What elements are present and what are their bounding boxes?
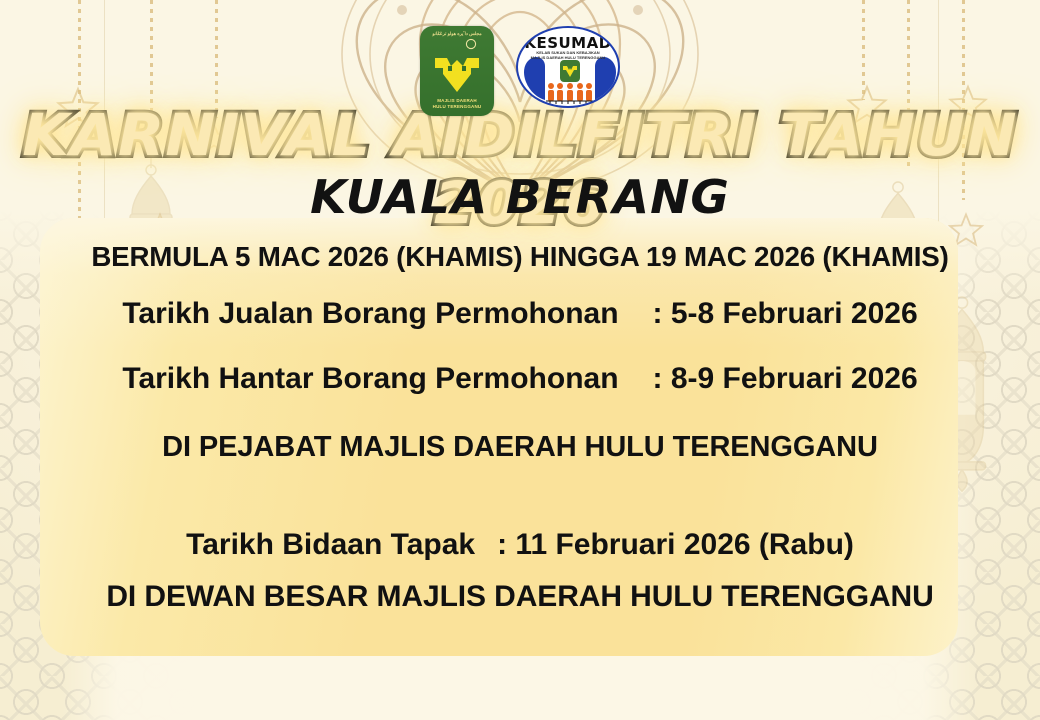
form-sale-date-value: : 5-8 Februari 2026: [653, 297, 918, 331]
majlis-daerah-hulu-terengganu-logo: مجلس داٴيره هولو ترڠݢانو MAJLIS DAERAHHU…: [420, 26, 494, 116]
logo-row: مجلس داٴيره هولو ترڠݢانو MAJLIS DAERAHHU…: [0, 26, 1040, 116]
kesumad-people-icon: [546, 82, 594, 104]
event-date-range: BERMULA 5 MAC 2026 (KHAMIS) HINGGA 19 MA…: [5, 241, 1035, 273]
mdht-name-text: MAJLIS DAERAHHULU TERENGGANU: [420, 98, 494, 110]
bidding-venue: DI DEWAN BESAR MAJLIS DAERAH HULU TERENG…: [0, 580, 1040, 614]
form-submit-date-value: : 8-9 Februari 2026: [653, 362, 918, 396]
mdht-emblem-icon: [431, 54, 483, 96]
form-sale-date-label: Tarikh Jualan Borang Permohonan: [122, 297, 618, 331]
kesumad-shield-icon: [560, 60, 580, 82]
poster-subtitle: KUALA BERANG: [0, 170, 1040, 224]
form-submit-date-row: Tarikh Hantar Borang Permohonan : 8-9 Fe…: [0, 362, 1040, 396]
bidding-date-row: Tarikh Bidaan Tapak : 11 Februari 2026 (…: [0, 528, 1040, 562]
kesumad-logo: KESUMAD KELAB SUKAN DAN KEBAJIKANMAJLIS …: [516, 26, 620, 108]
forms-venue: DI PEJABAT MAJLIS DAERAH HULU TERENGGANU: [0, 431, 1040, 464]
bidding-date-label: Tarikh Bidaan Tapak: [186, 528, 475, 562]
poster-canvas: مجلس داٴيره هولو ترڠݢانو MAJLIS DAERAHHU…: [0, 0, 1040, 720]
mdht-jawi-text: مجلس داٴيره هولو ترڠݢانو: [420, 31, 494, 37]
form-sale-date-row: Tarikh Jualan Borang Permohonan : 5-8 Fe…: [0, 297, 1040, 331]
kesumad-subtext: KELAB SUKAN DAN KEBAJIKANMAJLIS DAERAH H…: [518, 50, 618, 60]
form-submit-date-label: Tarikh Hantar Borang Permohonan: [122, 362, 618, 396]
bidding-date-value: : 11 Februari 2026 (Rabu): [497, 528, 854, 562]
mdht-crescent-icon: [464, 38, 478, 50]
